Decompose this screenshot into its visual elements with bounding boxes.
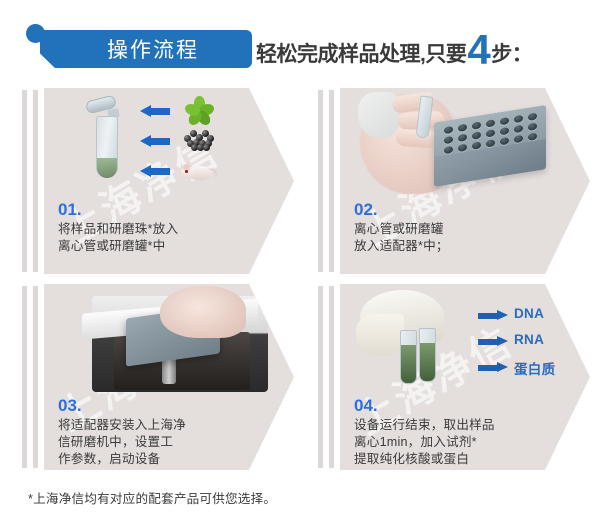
step-number: 04. [354,396,582,415]
sample-vial [419,328,436,382]
arrow-left-icon [140,135,170,147]
step-card-02: 上海净信 [318,88,590,274]
header-badge: 操作流程 [40,30,252,68]
card-media-04: DNA RNA 蛋白质 [340,284,590,396]
card-body-01: 01. 将样品和研磨珠*放入 离心管或研磨罐*中 [58,200,286,255]
card-media-03 [44,284,294,396]
arrow-right-icon [478,336,508,347]
step-description: 离心管或研磨罐 放入适配器*中； [354,221,582,255]
card-accent-bar [33,286,38,468]
header-badge-label: 操作流程 [40,30,252,68]
step-number: 01. [58,200,286,219]
steps-grid: 上海净信 [0,88,600,470]
step-card-04: 上海净信 DNA RNA 蛋白质 04. [318,284,590,470]
step-description: 将适配器安装入上海净 信研磨机中，设置工 作参数，启动设备 [58,417,286,468]
leaf-icon [184,96,214,124]
step-card-01: 上海净信 [22,88,294,274]
page-title-suffix: 步： [491,38,532,68]
card-body-03: 03. 将适配器安装入上海净 信研磨机中，设置工 作参数，启动设备 [58,396,286,468]
arrow-right-icon [478,310,508,321]
centrifuge-tube-icon [84,96,128,192]
gloved-hand-vials-photo [356,286,471,392]
step-description: 设备运行结束，取出样品 离心1min，加入试剂* 提取纯化核酸或蛋白 [354,417,582,468]
adapter-block-photo [358,88,558,200]
page-title: 轻松完成样品处理,只要4步： [256,30,532,70]
page-title-prefix: 轻松完成样品处理,只要 [256,38,466,68]
arrow-right-icon [478,362,508,373]
mouse-icon [180,160,216,182]
footer-note: *上海净信均有对应的配套产品可供您选择。 [28,488,276,507]
output-label-dna: DNA [514,306,544,321]
card-panel: 上海净信 [340,88,590,274]
step-number: 03. [58,396,286,415]
step-description: 将样品和研磨珠*放入 离心管或研磨罐*中 [58,221,286,255]
sample-vial [400,330,417,384]
card-accent-bar [318,286,323,468]
arrow-left-icon [140,165,170,177]
card-body-04: 04. 设备运行结束，取出样品 离心1min，加入试剂* 提取纯化核酸或蛋白 [354,396,582,468]
card-panel: 上海净信 [44,88,294,274]
card-accent-bar [33,90,38,272]
grinding-beads-icon [182,128,216,150]
output-label-rna: RNA [514,332,544,347]
output-label-protein: 蛋白质 [514,358,555,378]
card-accent-bar [22,286,27,468]
header: 操作流程 轻松完成样品处理,只要4步： [0,0,600,88]
card-accent-bar [329,286,334,468]
card-accent-bar [22,90,27,272]
card-panel: 上海净信 DNA RNA 蛋白质 04. [340,284,590,470]
promo-infographic: 操作流程 轻松完成样品处理,只要4步： 上海净信 [0,0,600,525]
page-title-step-count: 4 [467,33,490,67]
grinder-machine-photo [82,284,282,396]
step-number: 02. [354,200,582,219]
arrow-left-icon [140,105,170,117]
card-media-02 [340,88,590,200]
step-card-03: 上海净信 03. 将适配器安装入上海净 信研磨机中，设置工 作参数，启动设备 [22,284,294,470]
card-accent-bar [329,90,334,272]
card-accent-bar [318,90,323,272]
card-media-01 [44,88,294,200]
card-body-02: 02. 离心管或研磨罐 放入适配器*中； [354,200,582,255]
card-panel: 上海净信 03. 将适配器安装入上海净 信研磨机中，设置工 作参数，启动设备 [44,284,294,470]
